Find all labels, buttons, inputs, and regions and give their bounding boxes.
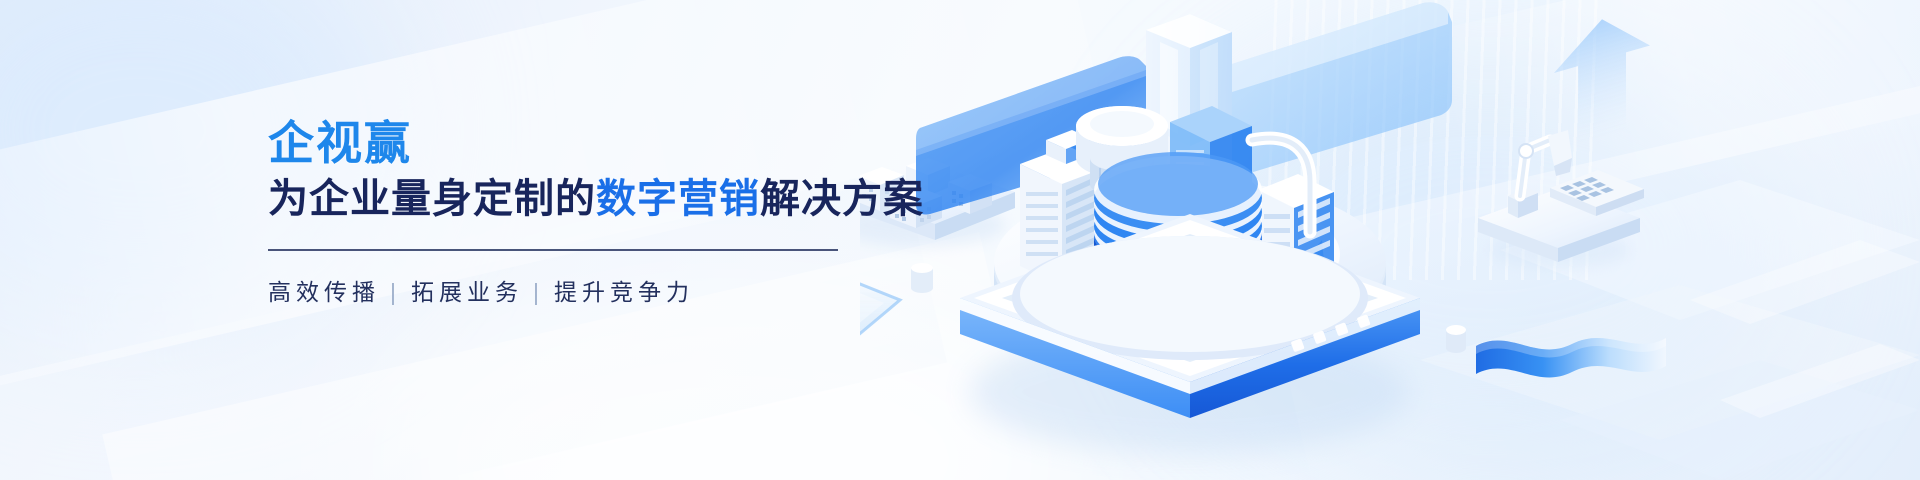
- tagline-item-0: 高效传播: [268, 279, 380, 305]
- headline-part-1: 为企业量身定制的: [268, 177, 596, 221]
- tagline-item-2: 提升竞争力: [554, 279, 694, 305]
- page-title: 为企业量身定制的数字营销解决方案: [268, 176, 908, 223]
- tagline-item-1: 拓展业务: [411, 279, 523, 305]
- divider: [268, 249, 838, 251]
- robot-arm-plate: [1478, 130, 1644, 268]
- hero-illustration: [860, 0, 1920, 480]
- tagline-separator: |: [523, 279, 554, 305]
- brand-name: 企视赢: [268, 118, 908, 170]
- hero-banner: 企视赢 为企业量身定制的数字营销解决方案 高效传播|拓展业务|提升竞争力: [0, 0, 1920, 480]
- arrow-up-icon: [1554, 5, 1650, 151]
- base-peg: [911, 263, 933, 293]
- tagline-separator: |: [380, 279, 411, 305]
- headline-highlight: 数字营销: [596, 177, 760, 221]
- tagline: 高效传播|拓展业务|提升竞争力: [268, 273, 908, 307]
- base-peg: [1446, 325, 1466, 353]
- headline-part-2: 解决方案: [760, 177, 924, 221]
- hero-copy: 企视赢 为企业量身定制的数字营销解决方案 高效传播|拓展业务|提升竞争力: [268, 118, 908, 307]
